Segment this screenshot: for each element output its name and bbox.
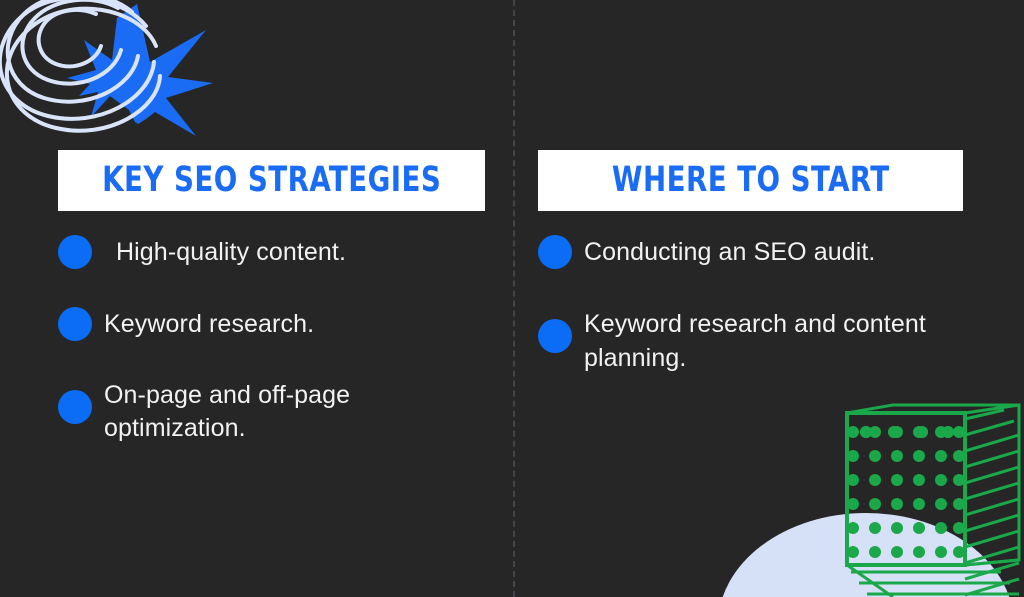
cube-back-outline xyxy=(847,405,1019,565)
bullet-list-right: Conducting an SEO audit. Keyword researc… xyxy=(538,235,963,375)
heading-box-left: KEY SEO STRATEGIES xyxy=(58,150,485,211)
cube-dot-grid-rows xyxy=(847,426,965,558)
cube-edge-bottom-right xyxy=(965,560,1019,565)
slide-canvas: KEY SEO STRATEGIES High-quality content.… xyxy=(0,0,1024,597)
list-item: Keyword research. xyxy=(58,307,485,341)
column-where-to-start: WHERE TO START Conducting an SEO audit. … xyxy=(538,150,963,375)
bullet-dot-icon xyxy=(58,235,92,269)
cube-dot-grid xyxy=(860,426,954,438)
cube-edge-top-right xyxy=(965,405,1019,413)
bullet-text: Keyword research and content planning. xyxy=(584,307,963,375)
bullet-text: Conducting an SEO audit. xyxy=(584,235,875,269)
lavender-blob xyxy=(718,513,1014,597)
cube-edge-bottom-left xyxy=(847,565,893,597)
green-dotted-cube-icon xyxy=(847,405,1019,597)
heading-title-left: KEY SEO STRATEGIES xyxy=(102,163,441,198)
column-key-seo-strategies: KEY SEO STRATEGIES High-quality content.… xyxy=(58,150,485,445)
column-divider xyxy=(513,0,515,597)
cube-front-face xyxy=(847,413,965,565)
bullet-list-left: High-quality content. Keyword research. … xyxy=(58,235,485,445)
list-item: On-page and off-page optimization. xyxy=(58,378,485,446)
swirl-spiral-icon xyxy=(0,0,160,131)
cube-bottom-face-stripes xyxy=(851,572,1019,594)
list-item: High-quality content. xyxy=(58,235,485,269)
list-item: Keyword research and content planning. xyxy=(538,307,963,375)
bullet-text: High-quality content. xyxy=(104,235,346,269)
heading-title-right: WHERE TO START xyxy=(612,163,890,198)
bullet-dot-icon xyxy=(58,307,92,341)
bullet-dot-icon xyxy=(538,235,572,269)
list-item: Conducting an SEO audit. xyxy=(538,235,963,269)
bullet-dot-icon xyxy=(58,390,92,424)
heading-box-right: WHERE TO START xyxy=(538,150,963,211)
bullet-text: Keyword research. xyxy=(104,307,314,341)
bullet-dot-icon xyxy=(538,319,572,353)
cube-right-face-stripes xyxy=(965,410,1019,595)
blue-starburst-icon xyxy=(67,4,213,136)
bullet-text: On-page and off-page optimization. xyxy=(104,378,485,446)
